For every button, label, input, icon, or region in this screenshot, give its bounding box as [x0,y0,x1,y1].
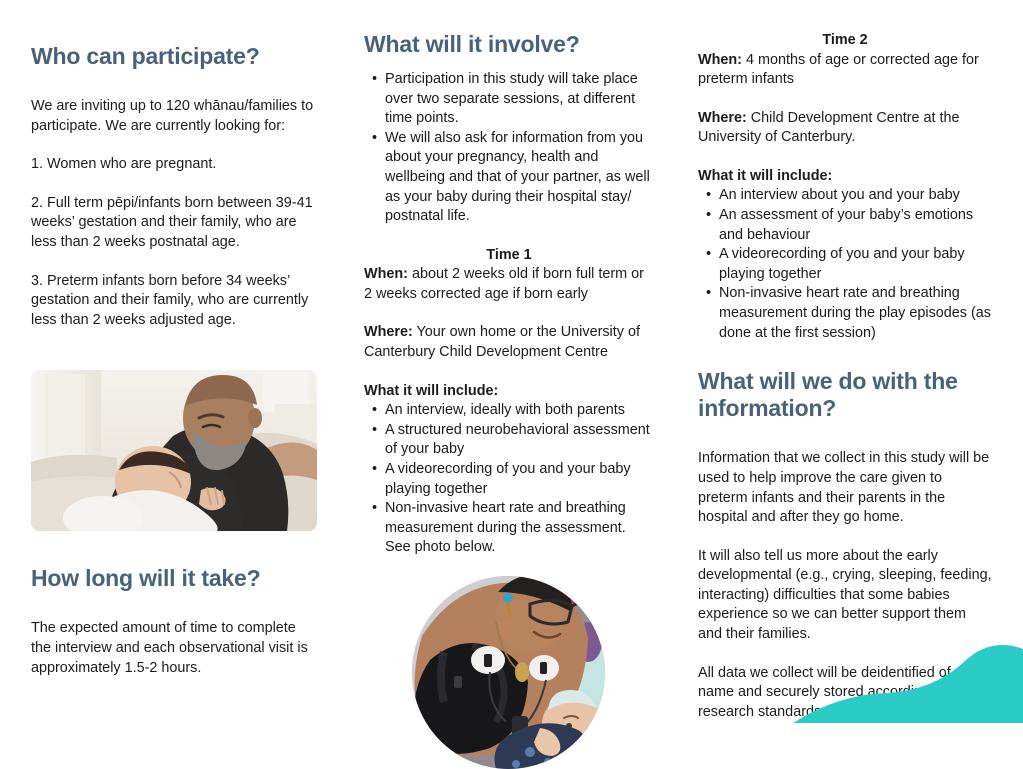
list-item: An interview about you and your baby [719,186,992,206]
list-item: Non-invasive heart rate and breathing me… [719,284,992,343]
column-information: Time 2 When: 4 months of age or correcte… [698,0,992,723]
time1-include-list: An interview, ideally with both parents … [364,401,654,558]
page-title-how-long: How long will it take? [31,565,319,592]
list-item: An assessment of your baby’s emotions an… [719,206,992,245]
time2-where: Where: Child Development Centre at the U… [698,109,992,148]
information-paragraph-1: Information that we collect in this stud… [698,449,992,527]
list-item: We will also ask for information from yo… [385,129,654,227]
list-item: Non-invasive heart rate and breathing me… [385,499,654,558]
photo-father-and-newborn [31,370,317,531]
criteria-item-2: 2. Full term pēpi/infants born between 3… [31,194,319,253]
criteria-item-1: 1. Women who are pregnant. [31,155,319,175]
time2-title: Time 2 [698,31,992,51]
page-title-what-will-we-do: What will we do with the information? [698,368,992,422]
page-title-who-can-participate: Who can participate? [31,43,319,70]
time1-when-label: When: [364,266,408,282]
time1-where: Where: Your own home or the University o… [364,323,654,362]
list-item: An interview, ideally with both parents [385,401,654,421]
intro-paragraph: We are inviting up to 120 whānau/familie… [31,97,319,136]
list-item: A videorecording of you and your baby pl… [385,460,654,499]
time1-when: When: about 2 weeks old if born full ter… [364,265,654,304]
time2-include-list: An interview about you and your baby An … [698,186,992,343]
criteria-item-3: 3. Preterm infants born before 34 weeks’… [31,272,319,331]
time2-when-label: When: [698,52,742,68]
time1-title: Time 1 [364,246,654,266]
page-title-what-will-it-involve: What will it involve? [364,31,654,58]
time1-where-label: Where: [364,324,413,340]
list-item: A structured neurobehavioral assessment … [385,421,654,460]
time2-include-label: What it will include: [698,167,992,187]
column-involve: What will it involve? Participation in t… [364,0,654,723]
time1-include-label: What it will include: [364,382,654,402]
information-paragraph-3: All data we collect will be deidentified… [698,664,992,723]
involve-bullet-list: Participation in this study will take pl… [364,70,654,227]
column-participate: Who can participate? We are inviting up … [31,0,319,723]
list-item: Participation in this study will take pl… [385,70,654,129]
time2-when: When: 4 months of age or corrected age f… [698,51,992,90]
time2-where-label: Where: [698,110,747,126]
duration-paragraph: The expected amount of time to complete … [31,619,319,678]
photo-mother-with-sensors-and-baby [412,576,605,769]
list-item: A videorecording of you and your baby pl… [719,245,992,284]
information-paragraph-2: It will also tell us more about the earl… [698,547,992,645]
